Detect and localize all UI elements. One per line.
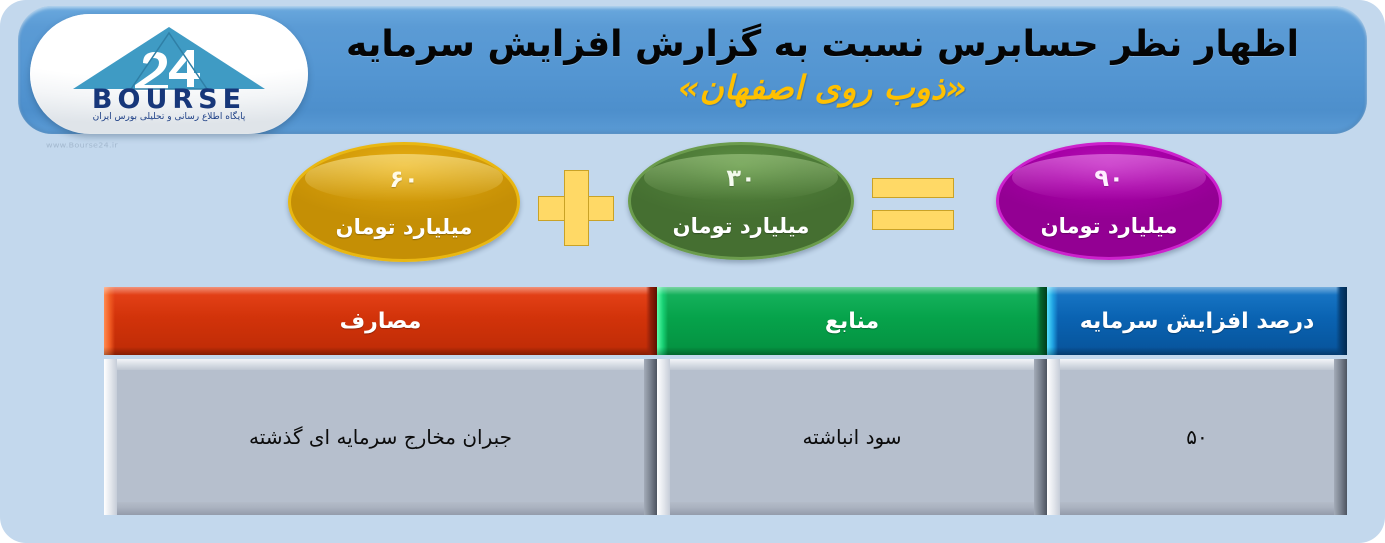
bubble-unit: میلیارد تومان: [336, 217, 473, 238]
watermark-text: www.Bourse24.ir: [46, 142, 296, 150]
amount-bubble-total: ۹۰ میلیارد تومان: [996, 142, 1222, 260]
bourse24-logo: BOURSE پایگاه اطلاع رسانی و تحلیلی بورس …: [30, 14, 308, 134]
equals-operator-icon: [872, 178, 954, 236]
cell-value: سود انباشته: [802, 425, 901, 449]
capital-increase-table: درصد افزایش سرمایه منابع مصارف ۵۰ سود ان…: [104, 287, 1347, 515]
column-header-sources: منابع: [657, 287, 1047, 355]
page-subtitle: «ذوب روی اصفهان»: [678, 71, 967, 106]
column-header-label: درصد افزایش سرمایه: [1080, 309, 1315, 334]
title-block: اظهار نظر حسابرس نسبت به گزارش افزایش سر…: [300, 4, 1345, 128]
column-header-label: مصارف: [340, 309, 422, 334]
logo-wordmark: BOURSE: [30, 86, 308, 113]
bubble-amount: ۳۰: [726, 166, 755, 190]
cell-uses: جبران مخارج سرمایه ای گذشته: [104, 359, 657, 515]
cell-sources: سود انباشته: [657, 359, 1047, 515]
amount-bubble-sources-cash: ۶۰ میلیارد تومان: [288, 142, 520, 262]
bubble-unit: میلیارد تومان: [673, 216, 810, 237]
column-header-uses: مصارف: [104, 287, 657, 355]
cell-value: جبران مخارج سرمایه ای گذشته: [249, 425, 512, 449]
logo-mark-svg: [69, 23, 269, 93]
bubble-amount: ۹۰: [1094, 166, 1123, 190]
equation-row: ۶۰ میلیارد تومان ۳۰ میلیارد تومان ۹۰ میل…: [280, 136, 1240, 270]
infographic-page: اظهار نظر حسابرس نسبت به گزارش افزایش سر…: [0, 0, 1385, 543]
table-row: ۵۰ سود انباشته جبران مخارج سرمایه ای گذش…: [104, 359, 1347, 515]
column-header-label: منابع: [825, 309, 879, 334]
table-header-row: درصد افزایش سرمایه منابع مصارف: [104, 287, 1347, 355]
cell-value: ۵۰: [1186, 425, 1207, 449]
plus-operator-icon: [538, 170, 614, 246]
amount-bubble-sources-retained: ۳۰ میلیارد تومان: [628, 142, 854, 260]
bubble-amount: ۶۰: [389, 167, 418, 191]
cell-percent: ۵۰: [1047, 359, 1347, 515]
column-header-percent: درصد افزایش سرمایه: [1047, 287, 1347, 355]
logo-tagline: پایگاه اطلاع رسانی و تحلیلی بورس ایران: [30, 113, 308, 122]
page-title: اظهار نظر حسابرس نسبت به گزارش افزایش سر…: [346, 26, 1299, 64]
bubble-unit: میلیارد تومان: [1041, 216, 1178, 237]
